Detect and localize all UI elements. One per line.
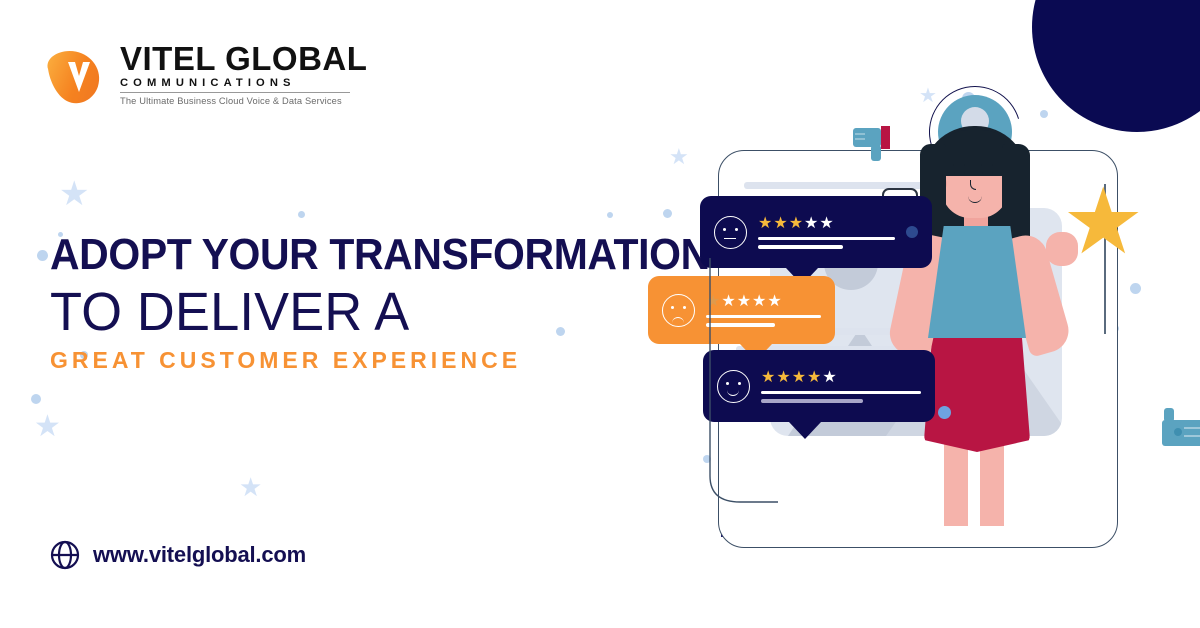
decorative-dot	[37, 250, 48, 261]
review-card-1-rating: ★★★★★	[758, 216, 895, 232]
headline-line-2: TO DELIVER A	[50, 282, 651, 342]
gold-star-icon: ★	[1062, 176, 1144, 268]
decorative-dot	[298, 211, 305, 218]
logo-company-name: VITEL GLOBAL	[120, 42, 350, 76]
headline-line-3: GREAT CUSTOMER EXPERIENCE	[50, 348, 670, 373]
decorative-star: ★	[34, 412, 61, 442]
card-connector-line	[698, 258, 778, 518]
marketing-banner: ★ ★ ★ ★ ★ ★ ★ ★ ★ ★ ★	[0, 0, 1200, 628]
website-url-text[interactable]: www.vitelglobal.com	[93, 542, 306, 568]
character-illustration: ★	[868, 114, 1118, 524]
logo-tagline: The Ultimate Business Cloud Voice & Data…	[120, 96, 350, 106]
logo-divider	[120, 92, 350, 93]
review-card-3-body: ★★★★★	[761, 370, 921, 403]
globe-icon	[50, 540, 80, 570]
company-logo[interactable]: VITEL GLOBAL COMMUNICATIONS The Ultimate…	[48, 42, 348, 124]
decorative-star: ★	[239, 474, 262, 500]
review-card-1-body: ★★★★★	[758, 216, 895, 249]
headline-line-1: ADOPT YOUR TRANSFORMATION	[50, 232, 627, 278]
decorative-dot	[607, 212, 613, 218]
sad-face-icon	[662, 294, 695, 327]
vitel-v-swoosh-icon	[48, 46, 110, 108]
decorative-dot	[31, 394, 41, 404]
illustration: ★ ★★★★★	[640, 60, 1200, 520]
decorative-dot	[938, 406, 951, 419]
headline-block: ADOPT YOUR TRANSFORMATION TO DELIVER A G…	[50, 232, 670, 374]
decorative-star: ★	[59, 177, 89, 211]
review-card-3-rating: ★★★★★	[761, 370, 921, 386]
logo-company-subtitle: COMMUNICATIONS	[120, 77, 350, 89]
website-url-block[interactable]: www.vitelglobal.com	[50, 540, 306, 570]
neutral-face-icon	[714, 216, 747, 249]
review-card-1-dot	[906, 226, 918, 238]
thumbs-up-icon	[1152, 408, 1200, 454]
